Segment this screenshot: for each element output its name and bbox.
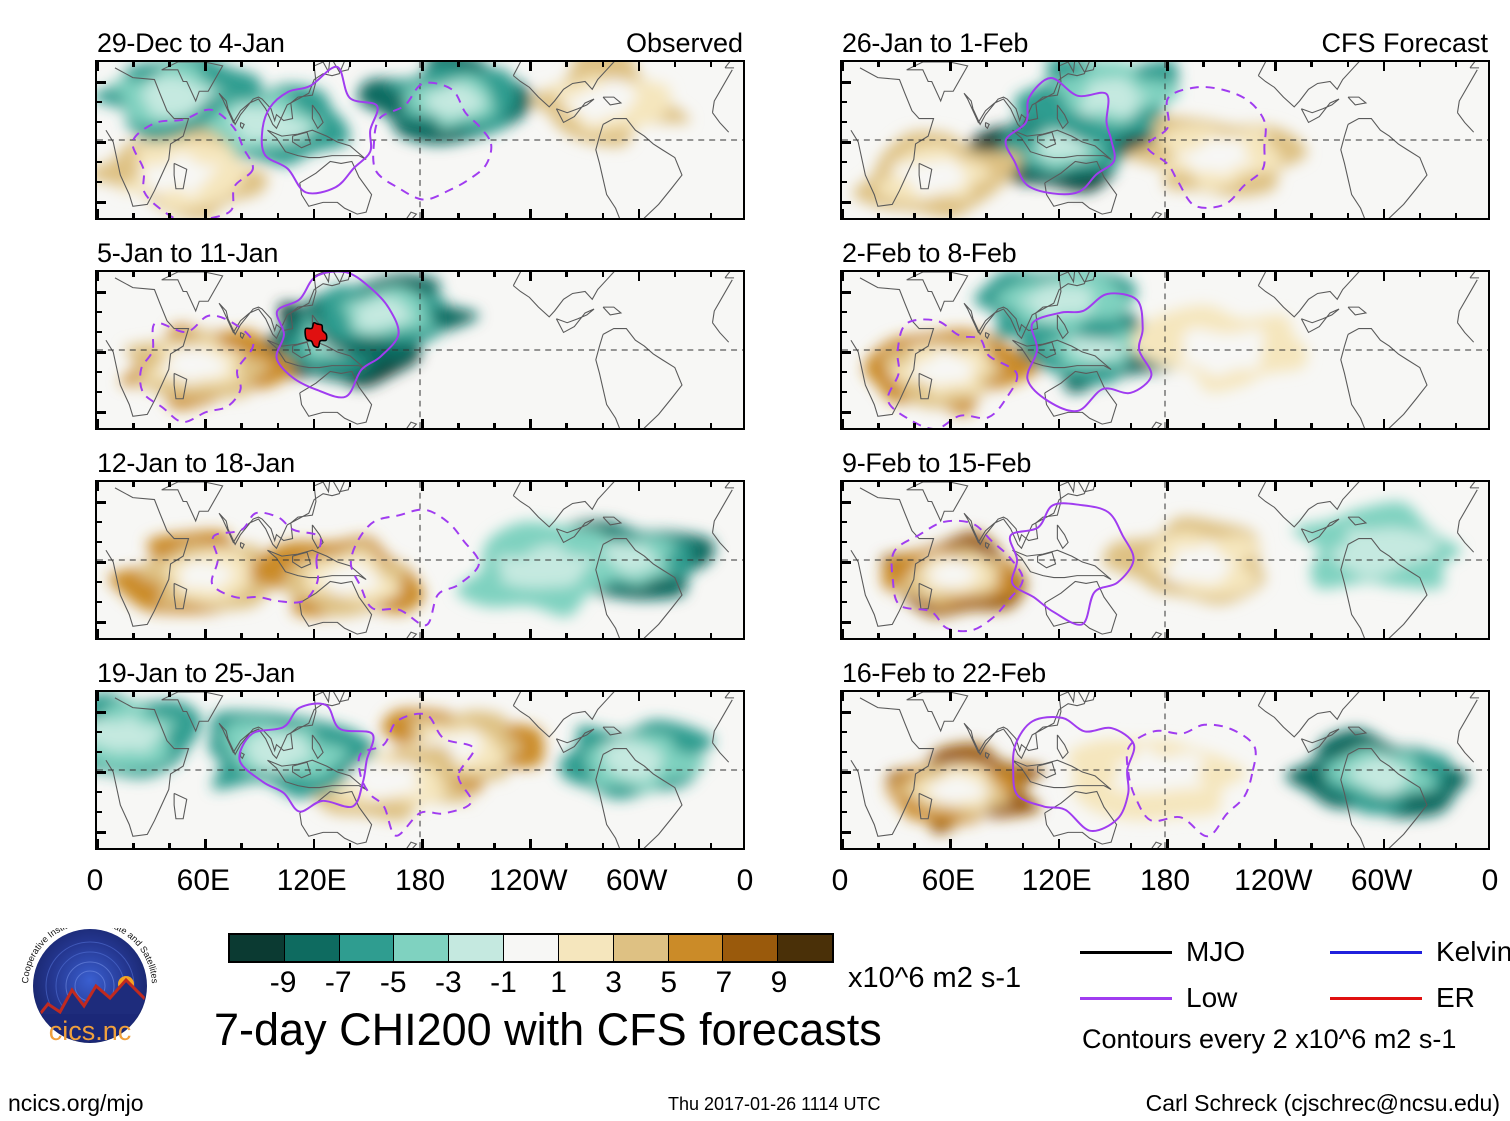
x-axis-top-tick [949,62,952,71]
x-axis-top-tick [1455,692,1458,697]
colorbar-tick-label: 7 [715,966,732,1000]
colorbar-tick-labels: -9-7-5-3-113579 [228,966,834,1002]
x-axis-top-tick [710,482,713,487]
x-axis-minor-tick [493,213,496,218]
legend-item: Kelvin x2 [1330,936,1510,968]
x-axis-minor-tick [1347,843,1350,848]
x-axis-minor-tick [1455,213,1458,218]
x-axis-top-tick [421,482,424,491]
y-axis-minor-tick [842,181,847,183]
legend-item: Low [1080,982,1237,1014]
x-axis-top-tick [277,692,280,697]
x-axis-minor-tick [385,633,388,638]
x-axis-top-tick [1455,62,1458,67]
x-axis-top-tick [421,692,424,701]
figure-footer-block: cics.nc Cooperative Institute for Climat… [0,900,1510,1121]
legend-line-swatch [1330,951,1422,954]
x-axis-minor-tick [1238,423,1241,428]
x-axis-top-tick [1310,482,1313,487]
x-axis-minor-tick [1094,423,1097,428]
y-axis-tick [842,711,851,714]
x-axis-minor-tick [457,633,460,638]
x-axis-top-tick [985,272,988,277]
x-axis-minor-tick [1455,633,1458,638]
colorbar-swatch [559,935,614,961]
x-axis-minor-tick [385,213,388,218]
x-axis-minor-tick [168,633,171,638]
x-axis-minor-tick [1455,423,1458,428]
x-axis-top-tick [1347,482,1350,487]
x-axis-minor-tick [1238,213,1241,218]
x-axis-top-tick [841,62,844,71]
x-axis-top-tick [913,62,916,67]
y-axis-minor-tick [842,581,847,583]
x-axis-top-tick [493,272,496,277]
y-axis-tick [97,141,106,144]
x-axis-top-tick [985,62,988,67]
x-axis-tick [1383,629,1386,638]
x-axis-minor-tick [1130,633,1133,638]
y-axis-tick [842,831,851,834]
x-axis-tick [1383,419,1386,428]
x-axis-minor-tick [1094,213,1097,218]
x-axis-minor-tick [1347,633,1350,638]
x-axis-tick [1166,209,1169,218]
map-panel: 26-Jan to 1-FebCFS Forecast30N030S [840,30,1490,220]
legend-label: Kelvin x2 [1436,936,1510,968]
y-axis-tick [842,81,851,84]
y-axis-minor-tick [97,101,102,103]
colorbar [228,933,834,963]
y-axis-minor-tick [97,751,102,753]
colorbar-tick-label: -7 [325,966,352,1000]
x-axis-top-tick [132,482,135,487]
x-axis-minor-tick [1202,843,1205,848]
x-axis-tick [421,419,424,428]
colorbar-swatch [778,935,832,961]
legend-item: ER [1330,982,1475,1014]
x-axis-tick-label: 60W [606,864,668,898]
x-axis-minor-tick [132,843,135,848]
x-axis-minor-tick [602,423,605,428]
x-axis-minor-tick [1347,213,1350,218]
x-axis-tick [1274,839,1277,848]
x-axis-tick-label: 120E [277,864,347,898]
x-axis-top-tick [457,482,460,487]
x-axis-top-tick [1058,692,1061,701]
x-axis-top-tick [349,62,352,67]
x-axis-top-tick [1274,272,1277,281]
map-plot-area: 30N030S [95,690,745,850]
x-axis-minor-tick [1202,213,1205,218]
x-axis-minor-tick [710,213,713,218]
panel-title: 2-Feb to 8-Feb [842,238,1016,269]
x-axis-top-tick [1238,272,1241,277]
x-axis-top-tick [349,692,352,697]
y-axis-tick [842,291,851,294]
panel-title: 29-Dec to 4-Jan [97,28,285,59]
x-axis-tick-label: 60E [177,864,230,898]
colorbar-tick-label: 1 [550,966,567,1000]
x-axis-minor-tick [132,213,135,218]
x-axis-top-tick [1419,62,1422,67]
x-axis-tick [638,419,641,428]
x-axis-minor-tick [913,423,916,428]
y-axis-tick [97,501,106,504]
x-axis-tick [204,629,207,638]
x-axis-minor-tick [1130,843,1133,848]
x-axis-top-tick [1166,692,1169,701]
x-axis-top-tick [602,482,605,487]
x-axis-top-tick [132,62,135,67]
x-axis-tick [1166,419,1169,428]
map-plot-area: 30N030S [840,270,1490,430]
legend-label: ER [1436,982,1475,1014]
y-axis-minor-tick [97,391,102,393]
x-axis-top-tick [529,482,532,491]
x-axis-minor-tick [877,843,880,848]
figure-main-title: 7-day CHI200 with CFS forecasts [214,1004,882,1056]
x-axis-tick [96,419,99,428]
x-axis-minor-tick [385,423,388,428]
y-axis-minor-tick [842,331,847,333]
y-axis-minor-tick [842,371,847,373]
x-axis-top-tick [204,62,207,71]
y-axis-tick [842,351,851,354]
x-axis-top-tick [913,482,916,487]
x-axis-top-tick [349,272,352,277]
legend-label: Low [1186,982,1237,1014]
x-axis-top-tick [674,482,677,487]
x-axis-minor-tick [1419,423,1422,428]
x-axis-minor-tick [132,633,135,638]
x-axis-top-tick [638,272,641,281]
x-axis-top-tick [841,692,844,701]
x-axis-tick-label: 0 [87,864,104,898]
x-axis-minor-tick [1419,843,1422,848]
x-axis-top-tick [602,62,605,67]
x-axis-minor-tick [1022,633,1025,638]
x-axis-top-tick [1383,62,1386,71]
x-axis-tick [313,209,316,218]
x-axis-minor-tick [602,843,605,848]
x-axis-tick [96,629,99,638]
x-axis-top-tick [565,272,568,277]
y-axis-minor-tick [842,731,847,733]
x-axis-minor-tick [913,633,916,638]
panel-grid: 29-Dec to 4-JanObserved30N030S5-Jan to 1… [0,0,1510,900]
x-axis-tick-label: 180 [1140,864,1190,898]
x-axis-top-tick [1238,692,1241,697]
map-canvas [842,272,1488,428]
x-axis-tick [638,629,641,638]
x-axis-minor-tick [277,423,280,428]
y-axis-tick [842,561,851,564]
x-axis-minor-tick [1202,423,1205,428]
y-axis-minor-tick [97,731,102,733]
x-axis-top-tick [1166,62,1169,71]
x-axis-minor-tick [1419,633,1422,638]
y-axis-tick [97,831,106,834]
x-axis-minor-tick [493,423,496,428]
x-axis-top-tick [1419,272,1422,277]
x-axis-tick [949,209,952,218]
x-axis-tick [421,209,424,218]
x-axis-top-tick [1383,482,1386,491]
x-axis-minor-tick [565,423,568,428]
x-axis-tick [204,209,207,218]
y-axis-tick [842,621,851,624]
x-axis-tick [841,209,844,218]
x-axis-top-tick [1419,482,1422,487]
x-axis-top-tick [493,62,496,67]
x-axis-top-tick [385,272,388,277]
x-axis-minor-tick [985,633,988,638]
x-axis-tick [949,839,952,848]
y-axis-minor-tick [97,311,102,313]
x-axis-minor-tick [1022,423,1025,428]
x-axis-tick-label: 0 [832,864,849,898]
x-axis-top-tick [277,482,280,487]
panel-title: 19-Jan to 25-Jan [97,658,295,689]
x-axis-tick-label: 60E [922,864,975,898]
x-axis-minor-tick [1130,213,1133,218]
y-axis-minor-tick [97,181,102,183]
x-axis-tick [313,839,316,848]
y-axis-minor-tick [97,331,102,333]
x-axis-top-tick [240,482,243,487]
y-axis-tick [842,201,851,204]
cics-nc-logo: cics.nc Cooperative Institute for Climat… [14,928,166,1050]
x-axis-top-tick [949,482,952,491]
x-axis-top-tick [949,692,952,701]
y-axis-minor-tick [97,791,102,793]
map-plot-area: 30N030S [840,60,1490,220]
x-axis-minor-tick [493,843,496,848]
x-axis-minor-tick [913,213,916,218]
x-axis-top-tick [421,272,424,281]
x-axis-tick [529,839,532,848]
x-axis-top-tick [565,62,568,67]
x-axis-top-tick [277,272,280,277]
x-axis-top-tick [1130,692,1133,697]
x-axis-top-tick [1238,482,1241,487]
x-axis-minor-tick [277,633,280,638]
x-axis-top-tick [710,692,713,697]
x-axis-top-tick [1383,272,1386,281]
x-axis-minor-tick [385,843,388,848]
x-axis-minor-tick [565,843,568,848]
x-axis-minor-tick [674,423,677,428]
column-header-forecast: CFS Forecast [1321,28,1488,59]
x-axis-tick-label: 120E [1022,864,1092,898]
x-axis-tick [1166,839,1169,848]
footer-timestamp: Thu 2017-01-26 1114 UTC [668,1094,880,1115]
y-axis-tick [842,771,851,774]
x-axis-minor-tick [1130,423,1133,428]
x-axis-tick [204,419,207,428]
x-axis-top-tick [96,692,99,701]
x-axis-minor-tick [1202,633,1205,638]
x-axis-top-tick [841,482,844,491]
x-axis-top-tick [1347,272,1350,277]
legend-line-swatch [1080,951,1172,954]
map-canvas [97,272,743,428]
y-axis-minor-tick [97,581,102,583]
x-axis-top-tick [1094,482,1097,487]
x-axis-top-tick [638,692,641,701]
x-axis-minor-tick [1238,633,1241,638]
y-axis-tick [842,141,851,144]
x-axis-top-tick [313,272,316,281]
x-axis-tick [638,839,641,848]
map-plot-area: 30N030S [95,480,745,640]
x-axis-tick [204,839,207,848]
x-axis-top-tick [602,272,605,277]
x-axis-top-tick [565,482,568,487]
y-axis-minor-tick [842,791,847,793]
y-axis-minor-tick [97,811,102,813]
x-axis-top-tick [877,692,880,697]
colorbar-swatch [504,935,559,961]
y-axis-minor-tick [97,521,102,523]
colorbar-swatch [285,935,340,961]
x-axis-top-tick [1310,272,1313,277]
x-axis-minor-tick [1419,213,1422,218]
y-axis-minor-tick [842,161,847,163]
x-axis-minor-tick [985,843,988,848]
x-axis-minor-tick [277,843,280,848]
colorbar-tick-label: 3 [605,966,622,1000]
x-axis-tick [313,419,316,428]
x-axis-minor-tick [1310,213,1313,218]
x-axis-minor-tick [1238,843,1241,848]
x-axis-top-tick [1166,482,1169,491]
x-axis-minor-tick [985,423,988,428]
y-axis-minor-tick [842,101,847,103]
x-axis-top-tick [913,692,916,697]
y-axis-tick [97,411,106,414]
panel-title: 5-Jan to 11-Jan [97,238,278,269]
x-axis-top-tick [1455,272,1458,277]
x-axis-top-tick [1310,692,1313,697]
x-axis-top-tick [1238,62,1241,67]
x-axis-minor-tick [240,633,243,638]
map-panel: 9-Feb to 15-Feb30N030S [840,450,1490,640]
footer-website[interactable]: ncics.org/mjo [8,1090,143,1117]
x-axis-minor-tick [349,213,352,218]
x-axis-tick [421,629,424,638]
x-axis-tick-label: 60W [1351,864,1413,898]
y-axis-tick [97,351,106,354]
x-axis-minor-tick [710,843,713,848]
x-axis-minor-tick [1022,213,1025,218]
x-axis-minor-tick [710,633,713,638]
map-panel: 2-Feb to 8-Feb30N030S [840,240,1490,430]
legend-line-swatch [1080,997,1172,1000]
x-axis-minor-tick [877,213,880,218]
x-axis-minor-tick [168,843,171,848]
y-axis-minor-tick [842,311,847,313]
y-axis-minor-tick [842,811,847,813]
colorbar-tick-label: 5 [660,966,677,1000]
legend-item: MJO [1080,936,1245,968]
x-axis-top-tick [168,692,171,697]
x-axis-top-tick [313,62,316,71]
x-axis-minor-tick [565,633,568,638]
colorbar-tick-label: -5 [380,966,407,1000]
x-axis-tick [841,419,844,428]
x-axis-top-tick [385,692,388,697]
x-axis-top-tick [385,482,388,487]
panel-title: 9-Feb to 15-Feb [842,448,1031,479]
x-axis-top-tick [1202,692,1205,697]
x-axis-top-tick [1094,272,1097,277]
x-axis-minor-tick [349,843,352,848]
map-plot-area: 30N030S [95,60,745,220]
x-axis-tick-label: 0 [1482,864,1499,898]
y-axis-minor-tick [97,371,102,373]
x-axis-tick [1274,629,1277,638]
x-axis-top-tick [96,272,99,281]
x-axis-minor-tick [674,213,677,218]
map-canvas [842,62,1488,218]
map-panel: 12-Jan to 18-Jan30N030S [95,450,745,640]
x-axis-top-tick [1022,482,1025,487]
y-axis-tick [97,291,106,294]
y-axis-minor-tick [842,121,847,123]
x-axis-minor-tick [240,423,243,428]
y-axis-minor-tick [842,391,847,393]
y-axis-tick [97,561,106,564]
x-axis-minor-tick [1094,843,1097,848]
colorbar-tick-label: -3 [435,966,462,1000]
x-axis-top-tick [985,482,988,487]
panel-title: 16-Feb to 22-Feb [842,658,1046,689]
x-axis-tick [1058,839,1061,848]
x-axis-top-tick [313,482,316,491]
colorbar-swatch [723,935,778,961]
colorbar-swatch [394,935,449,961]
x-axis-minor-tick [602,213,605,218]
x-axis-tick [949,419,952,428]
x-axis-minor-tick [1094,633,1097,638]
map-panel: 29-Dec to 4-JanObserved30N030S [95,30,745,220]
panel-title: 26-Jan to 1-Feb [842,28,1028,59]
x-axis-tick [1274,209,1277,218]
x-axis-top-tick [168,272,171,277]
x-axis-minor-tick [565,213,568,218]
x-axis-top-tick [710,272,713,277]
x-axis-top-tick [457,62,460,67]
x-axis-minor-tick [349,423,352,428]
x-axis-tick [529,629,532,638]
x-axis-top-tick [1347,692,1350,697]
x-axis-top-tick [877,62,880,67]
x-axis-top-tick [204,482,207,491]
x-axis-minor-tick [240,843,243,848]
y-axis-minor-tick [97,601,102,603]
map-canvas [97,692,743,848]
contour-legend: MJOKelvin x2LowER [1080,936,1500,1020]
x-axis-minor-tick [674,843,677,848]
x-axis-top-tick [565,692,568,697]
x-axis-top-tick [277,62,280,67]
x-axis-tick [841,839,844,848]
x-axis-top-tick [1022,692,1025,697]
x-axis-top-tick [240,272,243,277]
x-axis-minor-tick [1310,843,1313,848]
